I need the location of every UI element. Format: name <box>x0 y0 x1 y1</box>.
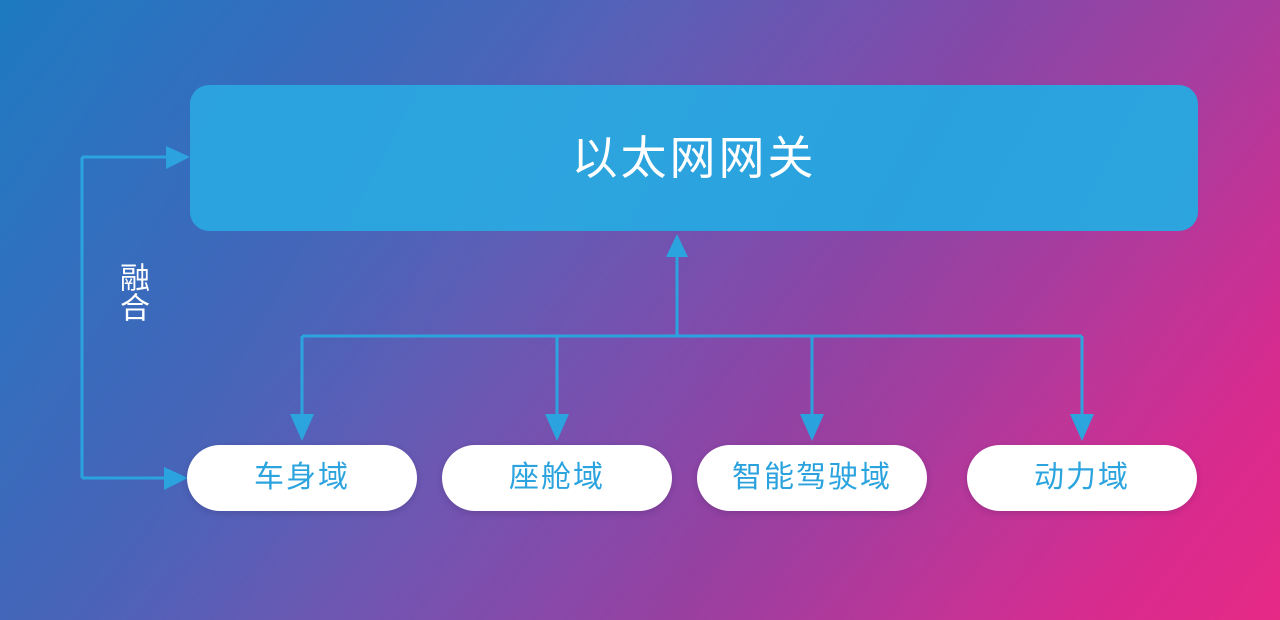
arrowhead-right-domain-1 <box>164 467 188 490</box>
domain-node-label: 车身域 <box>254 463 350 493</box>
domain-node-cockpit[interactable]: 座舱域 <box>442 445 672 511</box>
gateway-node-label: 以太网网关 <box>572 135 817 181</box>
arrowhead-down-domain-1 <box>290 414 314 441</box>
domain-node-label: 动力域 <box>1034 463 1130 493</box>
arrowhead-up-gateway <box>666 234 688 257</box>
gateway-node[interactable]: 以太网网关 <box>190 85 1198 231</box>
diagram-canvas: 以太网网关 融合 车身域 座舱域 智能驾驶域 动力域 <box>0 0 1280 620</box>
arrowhead-down-domain-3 <box>800 414 824 441</box>
domain-node-body[interactable]: 车身域 <box>187 445 417 511</box>
domain-node-intelligent-driving[interactable]: 智能驾驶域 <box>697 445 927 511</box>
arrowhead-down-domain-2 <box>545 414 569 441</box>
fusion-annotation-label: 融合 <box>104 262 150 322</box>
domain-node-label: 智能驾驶域 <box>732 463 892 493</box>
domain-node-label: 座舱域 <box>509 463 605 493</box>
arrowhead-right-gateway <box>166 146 190 169</box>
domain-node-powertrain[interactable]: 动力域 <box>967 445 1197 511</box>
arrowhead-down-domain-4 <box>1070 414 1094 441</box>
